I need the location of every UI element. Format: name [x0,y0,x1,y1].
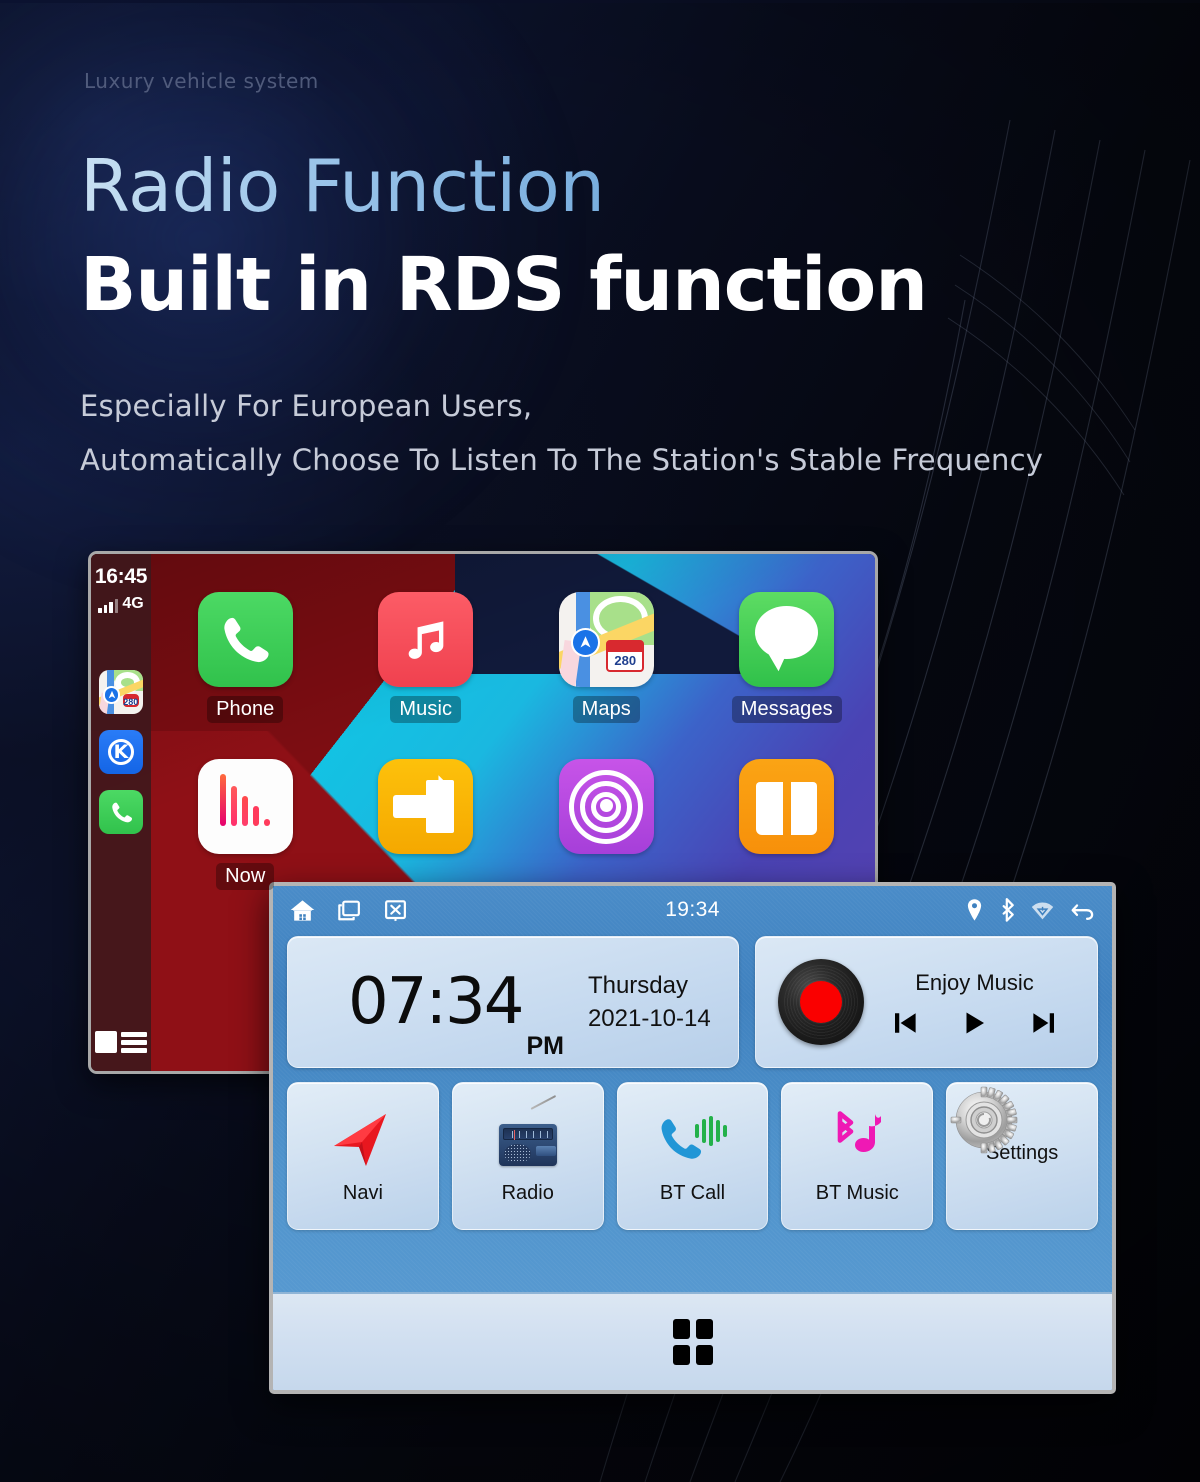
maps-icon: 280 [559,592,654,687]
music-widget-title: Enjoy Music [915,970,1034,996]
head-unit-dock [273,1292,1112,1390]
head-unit-screen: 19:34 07:34 PM Thursday 2021-10-14 [269,882,1116,1394]
page-title-line2: Built in RDS function [80,248,927,322]
sidebar-kico-icon[interactable]: K [99,730,143,774]
books-icon [739,759,834,854]
back-arrow-icon[interactable] [1069,898,1096,922]
phone-icon [198,592,293,687]
clock-widget[interactable]: 07:34 PM Thursday 2021-10-14 [287,936,739,1068]
carplay-status-network: 4G [122,595,143,613]
tile-radio[interactable]: Radio [452,1082,604,1230]
carplay-app-now-playing[interactable]: Now [183,759,308,890]
tile-bt-music[interactable]: BT Music [781,1082,933,1230]
wifi-icon [1031,900,1054,921]
now-playing-icon [198,759,293,854]
recent-apps-icon[interactable] [336,898,363,923]
clock-widget-weekday: Thursday [588,972,711,1000]
background-top-edge [0,0,1200,3]
carplay-app-maps[interactable]: 280 Maps [544,592,669,723]
eyebrow-text: Luxury vehicle system [84,69,319,93]
clock-widget-time: 07:34 [348,970,522,1034]
carplay-sidebar-icons: 280 K [99,670,143,834]
head-unit-widgets: 07:34 PM Thursday 2021-10-14 Enjoy Music [287,936,1098,1068]
subtitle-line1: Especially For European Users, [80,389,532,423]
subtitle-line2: Automatically Choose To Listen To The St… [80,443,1043,477]
screen-off-icon[interactable] [383,898,408,923]
tile-settings[interactable]: Settings [946,1082,1098,1230]
carplay-app-label: Phone [207,696,283,723]
page-title-line1: Radio Function [80,150,604,222]
message-bubble-icon [739,592,834,687]
home-icon[interactable] [289,897,316,924]
apps-grid-icon[interactable] [673,1319,713,1365]
sidebar-phone-icon[interactable] [99,790,143,834]
carplay-status-time: 16:45 [95,565,147,589]
signal-bars-icon [98,599,118,613]
head-unit-statusbar: 19:34 [273,886,1112,934]
carplay-app-label: Music [390,696,461,723]
carplay-sidebar: 16:45 4G 280 K [91,554,151,1071]
sidebar-maps-icon[interactable]: 280 [99,670,143,714]
carplay-app-label: Messages [732,696,842,723]
maps-route-number: 280 [614,654,636,667]
carplay-app-music[interactable]: Music [364,592,489,723]
tile-label: BT Call [660,1182,725,1205]
carplay-app-label: Now [216,863,274,890]
head-unit-app-tiles: Navi Radio [287,1082,1098,1230]
carplay-app-label: Maps [573,696,640,723]
clock-widget-date: 2021-10-14 [588,1005,711,1033]
previous-track-icon[interactable] [890,1008,920,1038]
carplay-app-phone[interactable]: Phone [183,592,308,723]
carplay-app-share[interactable] [364,759,489,890]
bt-music-icon [820,1102,894,1176]
carplay-status-signal: 4G [98,595,143,613]
carplay-app-books[interactable] [725,759,850,890]
carplay-app-row-1: Phone Music [183,592,849,723]
play-icon[interactable] [959,1008,989,1038]
navigation-arrow-icon [326,1102,400,1176]
bluetooth-icon [999,898,1016,922]
vinyl-record-icon [778,959,864,1045]
tile-label: Radio [502,1182,554,1205]
carplay-app-podcasts[interactable] [544,759,669,890]
tile-label: BT Music [816,1182,899,1205]
tile-navi[interactable]: Navi [287,1082,439,1230]
gear-icon [949,1085,1023,1159]
tile-label: Navi [343,1182,383,1205]
carplay-now-playing-list-icon[interactable] [95,1031,147,1053]
tile-bt-call[interactable]: BT Call [617,1082,769,1230]
share-box-icon [378,759,473,854]
bt-call-icon [655,1102,729,1176]
next-track-icon[interactable] [1029,1008,1059,1038]
music-widget[interactable]: Enjoy Music [755,936,1098,1068]
location-pin-icon [965,898,984,922]
carplay-app-messages[interactable]: Messages [725,592,850,723]
music-note-icon [378,592,473,687]
clock-widget-ampm: PM [526,1032,564,1061]
carplay-app-row-2: Now [183,759,849,890]
radio-icon [491,1102,565,1176]
podcasts-icon [559,759,654,854]
